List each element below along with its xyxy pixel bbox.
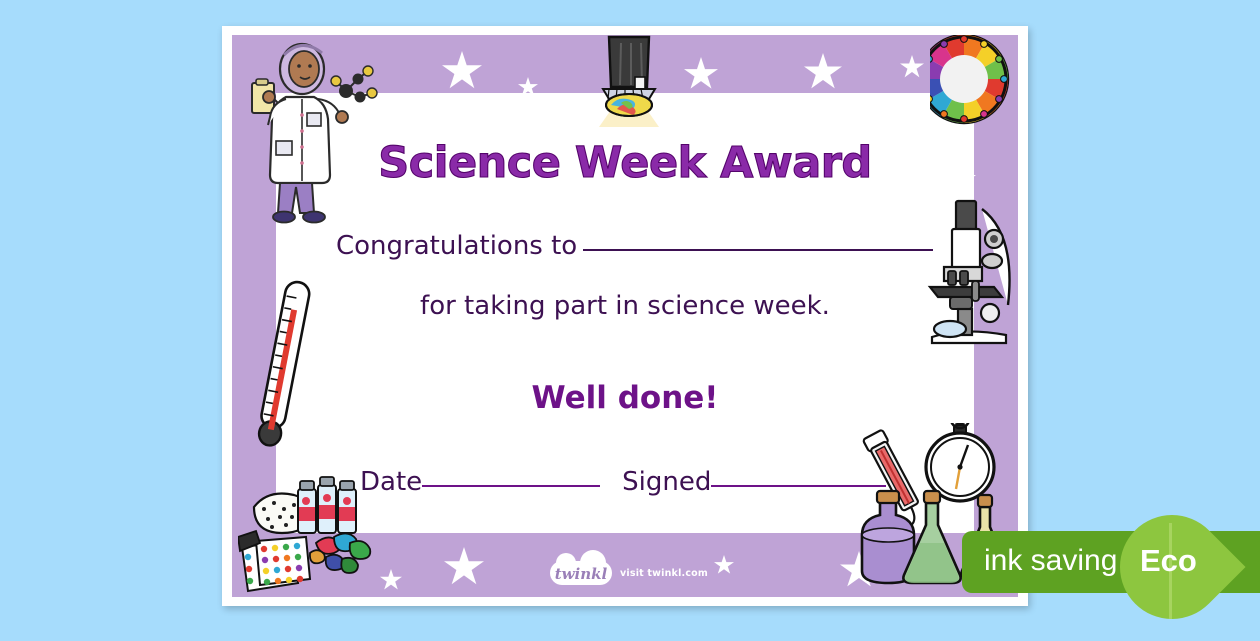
congratulations-label: Congratulations to xyxy=(336,231,577,261)
star-decoration xyxy=(804,53,842,91)
star-decoration xyxy=(684,57,718,91)
scientist-hijab-lab-coat-icon xyxy=(250,35,380,225)
microscope-icon xyxy=(922,195,1018,347)
twinkl-wordmark: twinkl xyxy=(550,565,612,583)
ink-saving-eco-badge: ink saving Eco xyxy=(962,531,1260,593)
recipient-name-field[interactable] xyxy=(583,249,933,251)
eco-label: Eco xyxy=(1140,543,1197,579)
page-title: Science Week Award xyxy=(232,138,1018,188)
twinkl-visit-url: visit twinkl.com xyxy=(620,568,708,579)
certificate-page: twinkl visit twinkl.com Science Week Awa… xyxy=(222,26,1028,606)
star-decoration xyxy=(444,547,484,587)
torch-rainbow-light-icon xyxy=(587,35,671,127)
signed-label: Signed xyxy=(622,467,711,497)
congratulations-line: Congratulations to xyxy=(336,231,933,261)
date-label: Date xyxy=(360,467,422,497)
twinkl-logo: twinkl visit twinkl.com xyxy=(550,561,708,585)
star-decoration xyxy=(900,55,924,79)
date-field[interactable] xyxy=(422,485,600,487)
well-done-line: Well done! xyxy=(232,380,1018,416)
decorative-purple-frame: twinkl visit twinkl.com Science Week Awa… xyxy=(232,35,1018,597)
twinkl-cloud-shape: twinkl xyxy=(550,561,612,585)
taking-part-line: for taking part in science week. xyxy=(232,291,1018,321)
ink-saving-label: ink saving xyxy=(984,544,1117,578)
star-decoration xyxy=(442,51,482,91)
star-decoration xyxy=(714,555,734,575)
signature-row: DateSigned xyxy=(360,467,886,497)
signed-field[interactable] xyxy=(711,485,886,487)
colour-wheel-spectrum-disc-icon xyxy=(930,35,1016,127)
